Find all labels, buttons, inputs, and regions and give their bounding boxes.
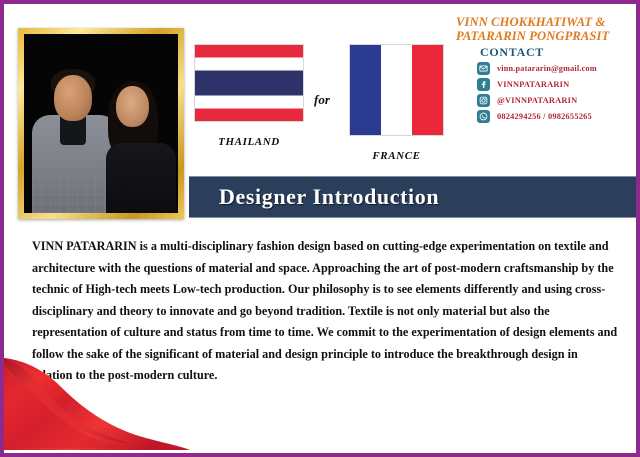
designer-names: VINN CHOKKHATIWAT & PATARARIN PONGPRASIT [456, 15, 640, 43]
facebook-icon [477, 78, 490, 91]
contact-item-facebook[interactable]: VINNPATARARIN [477, 77, 640, 92]
contact-email-text: vinn.patararin@gmail.com [497, 64, 597, 73]
contact-item-email[interactable]: vinn.patararin@gmail.com [477, 61, 640, 76]
instagram-icon [477, 94, 490, 107]
photo-woman-body [106, 143, 176, 213]
contact-list: vinn.patararin@gmail.com VINNPATARARIN @… [477, 61, 640, 125]
contact-item-instagram[interactable]: @VINNPATARARIN [477, 93, 640, 108]
envelope-icon [477, 62, 490, 75]
slide-canvas: for THAILAND FRANCE VINN CHOKKHATIWAT & … [0, 0, 640, 457]
thailand-label: THAILAND [194, 136, 304, 148]
section-title-banner: Designer Introduction [189, 176, 636, 218]
contact-heading: CONTACT [480, 45, 544, 60]
france-flag-icon [349, 44, 444, 136]
contact-phone-text: 0824294256 / 0982655265 [497, 112, 592, 121]
thailand-flag-icon [194, 44, 304, 122]
flags-connector-label: for [314, 92, 330, 108]
designer-photo [24, 34, 178, 213]
contact-instagram-text: @VINNPATARARIN [497, 96, 577, 105]
france-label: FRANCE [344, 150, 449, 162]
photo-man-head [54, 75, 92, 121]
designer-introduction-text: VINN PATARARIN is a multi-disciplinary f… [32, 236, 618, 387]
designer-photo-frame [18, 28, 184, 219]
contact-facebook-text: VINNPATARARIN [497, 80, 569, 89]
contact-item-phone[interactable]: 0824294256 / 0982655265 [477, 109, 640, 124]
photo-woman-face [117, 89, 148, 125]
whatsapp-icon [477, 110, 490, 123]
flags-group: for THAILAND FRANCE [194, 44, 444, 154]
page-title: Designer Introduction [219, 184, 439, 210]
